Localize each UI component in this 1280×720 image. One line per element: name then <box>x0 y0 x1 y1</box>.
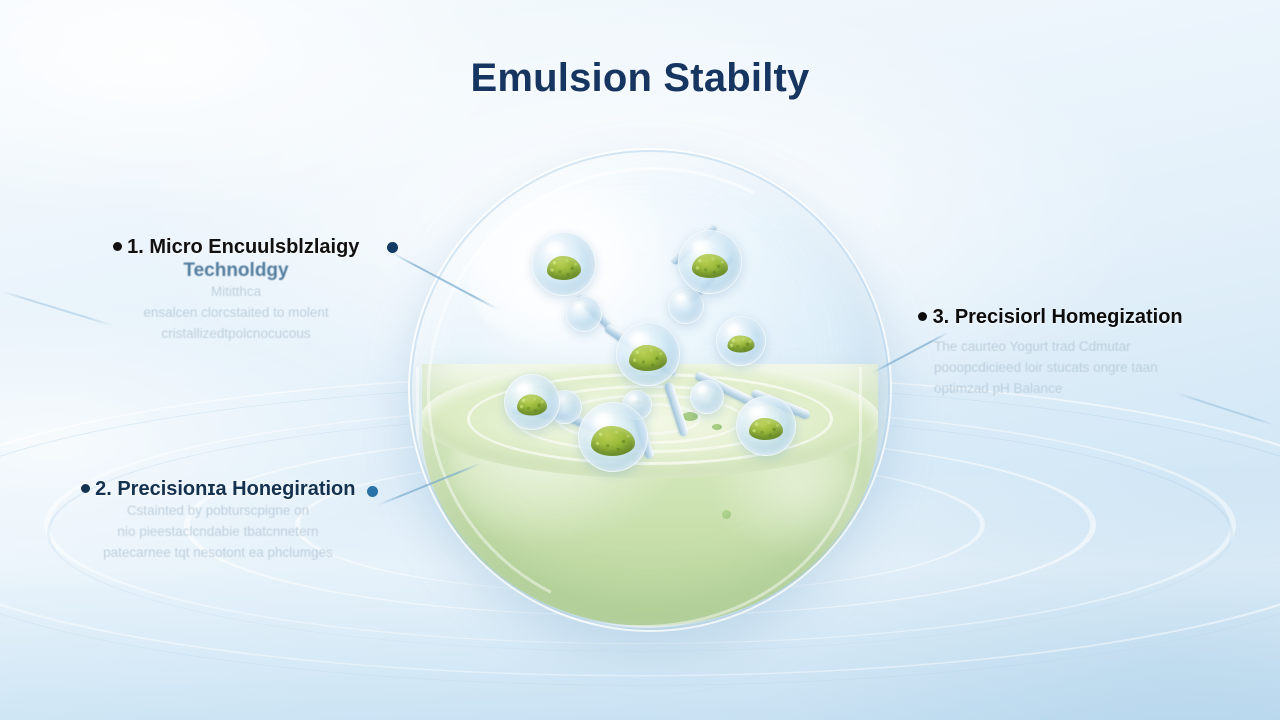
callout-1-body: Mititthca ensalcen clorcstaited to molen… <box>86 282 386 345</box>
callout-2-body-line: Cstainted by pobturscpigne on <box>62 501 374 522</box>
bullet-icon <box>918 312 927 321</box>
slide-canvas: Emulsion Stabilty <box>0 0 1280 720</box>
callout-1-body-line: cristallizedtpolcnocucous <box>86 324 386 345</box>
callout-1-title: Micro Encuulsblzlaigy <box>149 236 359 258</box>
molecule-node-encapsulated <box>578 402 648 472</box>
callout-1-body-line: ensalcen clorcstaited to molent <box>86 303 386 324</box>
page-title: Emulsion Stabilty <box>0 56 1280 101</box>
callout-2[interactable]: 2. Precisionɪa Honegiration Cstainted by… <box>62 478 374 564</box>
callout-2-number: 2. <box>95 478 112 500</box>
molecule-node-encapsulated <box>678 230 742 294</box>
callout-3-body-line: optimzad pH Balance <box>934 379 1224 400</box>
molecule-node-encapsulated <box>532 232 596 296</box>
callout-3-heading: 3. Precisiorl Homegization <box>918 306 1248 329</box>
callout-2-body: Cstainted by pobturscpigne on nio pieest… <box>62 501 374 564</box>
callout-3[interactable]: 3. Precisiorl Homegization The caurteo Y… <box>918 306 1248 400</box>
callout-2-title: Precisionɪa Honegiration <box>117 478 355 500</box>
molecule-bond <box>664 381 690 437</box>
callout-3-body-line: The caurteo Yogurt trad Cdmutar <box>934 337 1224 358</box>
molecule-lattice <box>400 140 900 640</box>
callout-1-number: 1. <box>127 236 144 258</box>
callout-2-body-line: patecarnee tqt nesotont ea phclumges <box>62 543 374 564</box>
callout-3-body-line: pooopcdicieed loir stucats ongre taan <box>934 358 1224 379</box>
molecule-node-small <box>566 296 602 332</box>
callout-3-title: Precisiorl Homegization <box>955 306 1183 328</box>
molecule-node-small <box>668 288 704 324</box>
callout-3-number: 3. <box>933 306 950 328</box>
callout-2-end-dot <box>367 486 378 497</box>
callout-2-heading: 2. Precisionɪa Honegiration <box>62 478 374 501</box>
callout-2-body-line: nio pieestaclcndabie tbatcnnetern <box>62 522 374 543</box>
molecule-node-encapsulated <box>616 322 680 386</box>
callout-3-body: The caurteo Yogurt trad Cdmutar pooopcdi… <box>934 337 1224 400</box>
molecule-node-encapsulated <box>716 316 766 366</box>
callout-1-subheading: Technoldgy <box>86 260 386 282</box>
callout-1-end-dot <box>387 242 398 253</box>
bullet-icon <box>113 242 122 251</box>
callout-1-heading: 1. Micro Encuulsblzlaigy <box>86 236 386 259</box>
molecule-node-encapsulated <box>504 374 560 430</box>
molecule-node-small <box>690 380 724 414</box>
hero-illustration <box>400 140 900 640</box>
callout-1-body-line: Mititthca <box>86 282 386 303</box>
bullet-icon <box>81 484 90 493</box>
callout-1[interactable]: 1. Micro Encuulsblzlaigy Technoldgy Miti… <box>86 236 386 345</box>
molecule-node-encapsulated <box>736 396 796 456</box>
